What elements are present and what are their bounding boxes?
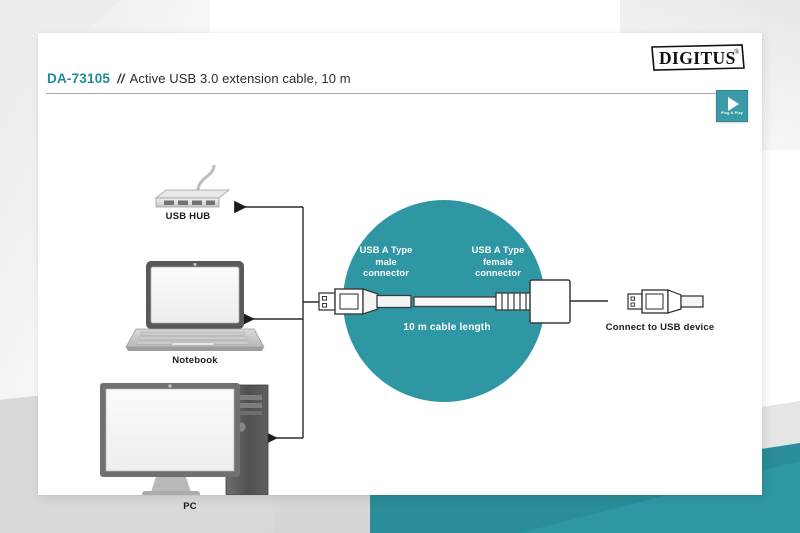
screenshot-root: DIGITUS ® DA-73105//Active USB 3.0 exten… <box>0 0 800 533</box>
cable-strain-relief <box>496 293 532 310</box>
product-sku: DA-73105 <box>47 71 110 86</box>
usb-hub-icon <box>156 165 229 207</box>
female-connector-label: USB A Type female connector <box>443 245 553 280</box>
page-title: DA-73105//Active USB 3.0 extension cable… <box>47 71 351 86</box>
product-description: Active USB 3.0 extension cable, 10 m <box>130 71 351 86</box>
male-connector-label: USB A Type male connector <box>331 245 441 280</box>
header-divider <box>46 93 726 94</box>
usb-a-male-connector-icon <box>319 289 378 314</box>
device-label-usb-hub: USB HUB <box>150 211 226 222</box>
device-label-notebook: Notebook <box>155 355 235 366</box>
notebook-icon <box>126 261 264 351</box>
cable-length-label: 10 m cable length <box>387 322 507 333</box>
connection-diagram: USB HUB Notebook PC USB A Type male conn… <box>38 97 762 495</box>
digitus-logo: DIGITUS ® <box>650 43 746 73</box>
title-separator: // <box>110 71 129 86</box>
svg-text:DIGITUS: DIGITUS <box>659 48 736 68</box>
diagram-graphics <box>38 97 762 495</box>
desktop-pc-icon <box>100 383 268 495</box>
connect-to-usb-device-label: Connect to USB device <box>589 322 731 333</box>
svg-text:®: ® <box>734 48 740 56</box>
product-sheet-card: DIGITUS ® DA-73105//Active USB 3.0 exten… <box>38 33 762 495</box>
device-label-pc: PC <box>150 501 230 512</box>
usb-plug-icon <box>628 290 703 313</box>
usb-a-female-connector-icon <box>530 280 570 323</box>
